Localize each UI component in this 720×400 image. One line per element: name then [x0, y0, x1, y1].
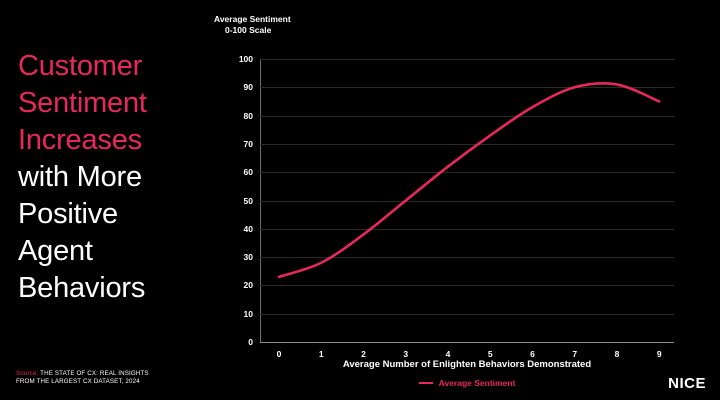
y-tick-label-100: 100	[239, 54, 253, 64]
legend-label-average-sentiment: Average Sentiment	[439, 378, 516, 388]
y-axis-title-main: Average Sentiment	[214, 14, 291, 24]
x-tick-label-2: 2	[361, 349, 366, 359]
x-tick-label-9: 9	[657, 349, 662, 359]
source-line-2: FROM THE LARGEST CX DATASET, 2024	[16, 378, 140, 385]
headline-white-line-3: Agent	[18, 233, 213, 270]
y-tick-label-20: 20	[244, 280, 253, 290]
y-tick-label-40: 40	[244, 224, 253, 234]
y-tick-label-10: 10	[244, 309, 253, 319]
y-axis-title-sub: 0-100 Scale	[214, 25, 291, 36]
x-tick-label-8: 8	[615, 349, 620, 359]
headline-accent-line-1: Customer	[18, 48, 213, 85]
y-axis-title: Average Sentiment 0-100 Scale	[214, 14, 291, 36]
gridline-y-0	[260, 342, 674, 343]
y-tick-label-50: 50	[244, 196, 253, 206]
y-tick-label-70: 70	[244, 139, 253, 149]
sentiment-line-chart: Average Sentiment 0-100 Scale 0102030405…	[204, 14, 704, 394]
x-tick-label-0: 0	[277, 349, 282, 359]
slide-canvas: Customer Sentiment Increases with More P…	[0, 0, 720, 400]
y-tick-label-30: 30	[244, 252, 253, 262]
headline-white-line-2: Positive	[18, 196, 213, 233]
x-axis-title: Average Number of Enlighten Behaviors De…	[260, 359, 674, 370]
headline-accent-line-3: Increases	[18, 122, 213, 159]
headline-white-line-4: Behaviors	[18, 270, 213, 307]
headline-block: Customer Sentiment Increases with More P…	[18, 48, 213, 307]
source-note: Source: THE STATE OF CX: REAL INSIGHTS F…	[16, 370, 216, 387]
headline-white-line-1: with More	[18, 159, 213, 196]
x-tick-label-3: 3	[403, 349, 408, 359]
source-line-1: THE STATE OF CX: REAL INSIGHTS	[40, 370, 149, 377]
y-tick-label-80: 80	[244, 111, 253, 121]
x-tick-label-5: 5	[488, 349, 493, 359]
headline-accent-line-2: Sentiment	[18, 85, 213, 122]
series-line-average-sentiment	[279, 83, 659, 277]
y-tick-label-90: 90	[244, 82, 253, 92]
series-svg	[260, 59, 674, 342]
x-tick-label-7: 7	[572, 349, 577, 359]
x-tick-label-6: 6	[530, 349, 535, 359]
legend-swatch-average-sentiment	[419, 382, 433, 384]
plot-area: 0102030405060708090100 0123456789	[260, 59, 674, 342]
source-label: Source:	[16, 370, 38, 377]
x-tick-label-4: 4	[446, 349, 451, 359]
y-tick-label-60: 60	[244, 167, 253, 177]
chart-legend: Average Sentiment	[260, 378, 674, 388]
x-tick-label-1: 1	[319, 349, 324, 359]
y-tick-label-0: 0	[248, 337, 253, 347]
